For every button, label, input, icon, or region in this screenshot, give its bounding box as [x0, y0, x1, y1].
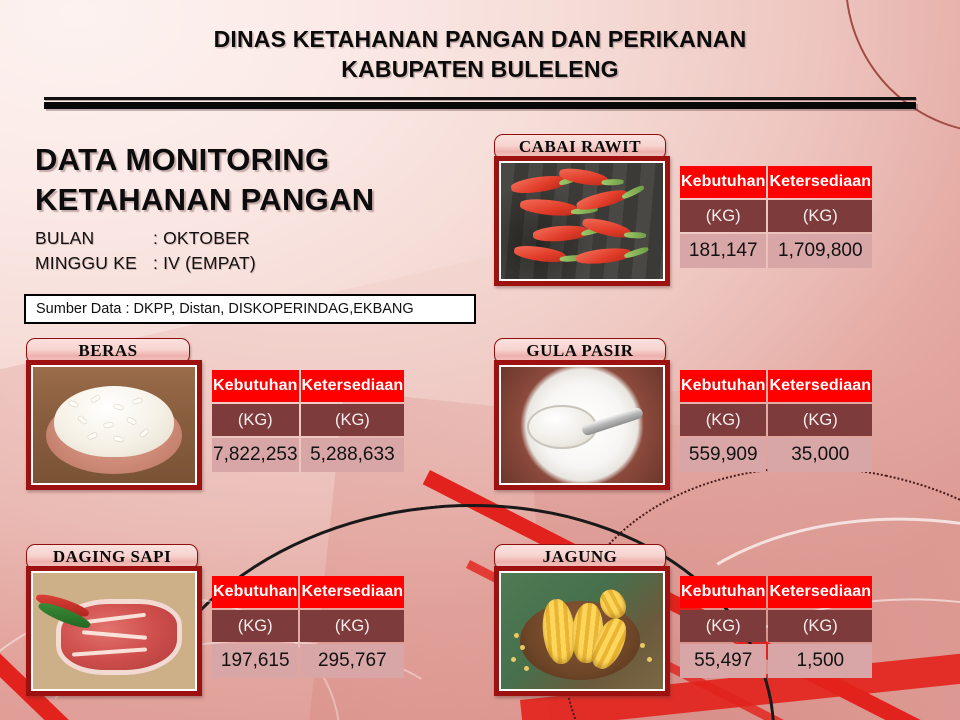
column-header-kebutuhan: Kebutuhan: [212, 370, 299, 402]
value-kebutuhan: 7,822,253: [212, 438, 299, 472]
data-table-beras: Kebutuhan Ketersediaan (KG) (KG) 7,822,2…: [210, 368, 406, 474]
unit-kebutuhan: (KG): [680, 610, 766, 642]
report-meta: BULAN : OKTOBER MINGGU KE : IV (EMPAT): [35, 226, 465, 276]
commodity-label-text: DAGING SAPI: [53, 547, 171, 567]
value-ketersediaan: 35,000: [768, 438, 872, 472]
commodity-label-text: CABAI RAWIT: [519, 137, 641, 157]
meta-value-bulan: : OKTOBER: [153, 226, 465, 251]
source-note-box: Sumber Data : DKPP, Distan, DISKOPERINDA…: [24, 294, 476, 324]
unit-ketersediaan: (KG): [301, 404, 405, 436]
table-value-row: 559,909 35,000: [680, 438, 872, 472]
header-line-2: KABUPATEN BULELENG: [0, 54, 960, 84]
source-note-text: Sumber Data : DKPP, Distan, DISKOPERINDA…: [36, 301, 414, 317]
table-header-row: Kebutuhan Ketersediaan: [212, 370, 404, 402]
meta-value-minggu: : IV (EMPAT): [153, 251, 465, 276]
column-header-ketersediaan: Ketersediaan: [768, 166, 872, 198]
value-ketersediaan: 295,767: [300, 644, 404, 678]
beef-steak-photo: [26, 566, 202, 696]
value-ketersediaan: 5,288,633: [301, 438, 405, 472]
commodity-label-text: GULA PASIR: [526, 341, 633, 361]
value-kebutuhan: 197,615: [212, 644, 298, 678]
slide-canvas: DINAS KETAHANAN PANGAN DAN PERIKANAN KAB…: [0, 0, 960, 720]
commodity-label-text: BERAS: [78, 341, 137, 361]
table-header-row: Kebutuhan Ketersediaan: [680, 370, 872, 402]
divider-thick-line: [44, 102, 916, 109]
value-ketersediaan: 1,500: [768, 644, 872, 678]
meta-row-bulan: BULAN : OKTOBER: [35, 226, 465, 251]
table-value-row: 55,497 1,500: [680, 644, 872, 678]
value-ketersediaan: 1,709,800: [768, 234, 872, 268]
table-header-row: Kebutuhan Ketersediaan: [680, 166, 872, 198]
value-kebutuhan: 181,147: [680, 234, 766, 268]
value-kebutuhan: 559,909: [680, 438, 766, 472]
column-header-ketersediaan: Ketersediaan: [301, 370, 405, 402]
table-header-row: Kebutuhan Ketersediaan: [212, 576, 404, 608]
unit-kebutuhan: (KG): [212, 610, 298, 642]
unit-kebutuhan: (KG): [212, 404, 299, 436]
unit-ketersediaan: (KG): [768, 200, 872, 232]
table-unit-row: (KG) (KG): [680, 200, 872, 232]
divider-thin-line: [44, 97, 916, 100]
sugar-spoon-photo: [494, 360, 670, 490]
unit-ketersediaan: (KG): [768, 404, 872, 436]
data-table-daging-sapi: Kebutuhan Ketersediaan (KG) (KG) 197,615…: [210, 574, 406, 680]
meta-key-minggu: MINGGU KE: [35, 251, 153, 276]
data-table-jagung: Kebutuhan Ketersediaan (KG) (KG) 55,497 …: [678, 574, 874, 680]
data-table-cabai-rawit: Kebutuhan Ketersediaan (KG) (KG) 181,147…: [678, 164, 874, 270]
header-divider: [44, 97, 916, 109]
unit-ketersediaan: (KG): [300, 610, 404, 642]
page-header: DINAS KETAHANAN PANGAN DAN PERIKANAN KAB…: [0, 24, 960, 84]
value-kebutuhan: 55,497: [680, 644, 766, 678]
page-title: DATA MONITORING KETAHANAN PANGAN: [35, 140, 465, 220]
table-value-row: 197,615 295,767: [212, 644, 404, 678]
unit-kebutuhan: (KG): [680, 404, 766, 436]
column-header-kebutuhan: Kebutuhan: [680, 576, 766, 608]
unit-kebutuhan: (KG): [680, 200, 766, 232]
header-line-1: DINAS KETAHANAN PANGAN DAN PERIKANAN: [0, 24, 960, 54]
page-title-line-2: KETAHANAN PANGAN: [35, 180, 465, 220]
column-header-ketersediaan: Ketersediaan: [768, 576, 872, 608]
column-header-kebutuhan: Kebutuhan: [212, 576, 298, 608]
meta-key-bulan: BULAN: [35, 226, 153, 251]
rice-bowl-photo: [26, 360, 202, 490]
column-header-ketersediaan: Ketersediaan: [768, 370, 872, 402]
table-unit-row: (KG) (KG): [212, 610, 404, 642]
meta-row-minggu: MINGGU KE : IV (EMPAT): [35, 251, 465, 276]
table-unit-row: (KG) (KG): [680, 404, 872, 436]
corn-photo: [494, 566, 670, 696]
commodity-label-text: JAGUNG: [543, 547, 618, 567]
unit-ketersediaan: (KG): [768, 610, 872, 642]
column-header-ketersediaan: Ketersediaan: [300, 576, 404, 608]
page-title-line-1: DATA MONITORING: [35, 140, 465, 180]
table-value-row: 7,822,253 5,288,633: [212, 438, 404, 472]
table-value-row: 181,147 1,709,800: [680, 234, 872, 268]
table-unit-row: (KG) (KG): [680, 610, 872, 642]
column-header-kebutuhan: Kebutuhan: [680, 166, 766, 198]
data-table-gula-pasir: Kebutuhan Ketersediaan (KG) (KG) 559,909…: [678, 368, 874, 474]
chili-pepper-photo: [494, 156, 670, 286]
table-unit-row: (KG) (KG): [212, 404, 404, 436]
table-header-row: Kebutuhan Ketersediaan: [680, 576, 872, 608]
column-header-kebutuhan: Kebutuhan: [680, 370, 766, 402]
